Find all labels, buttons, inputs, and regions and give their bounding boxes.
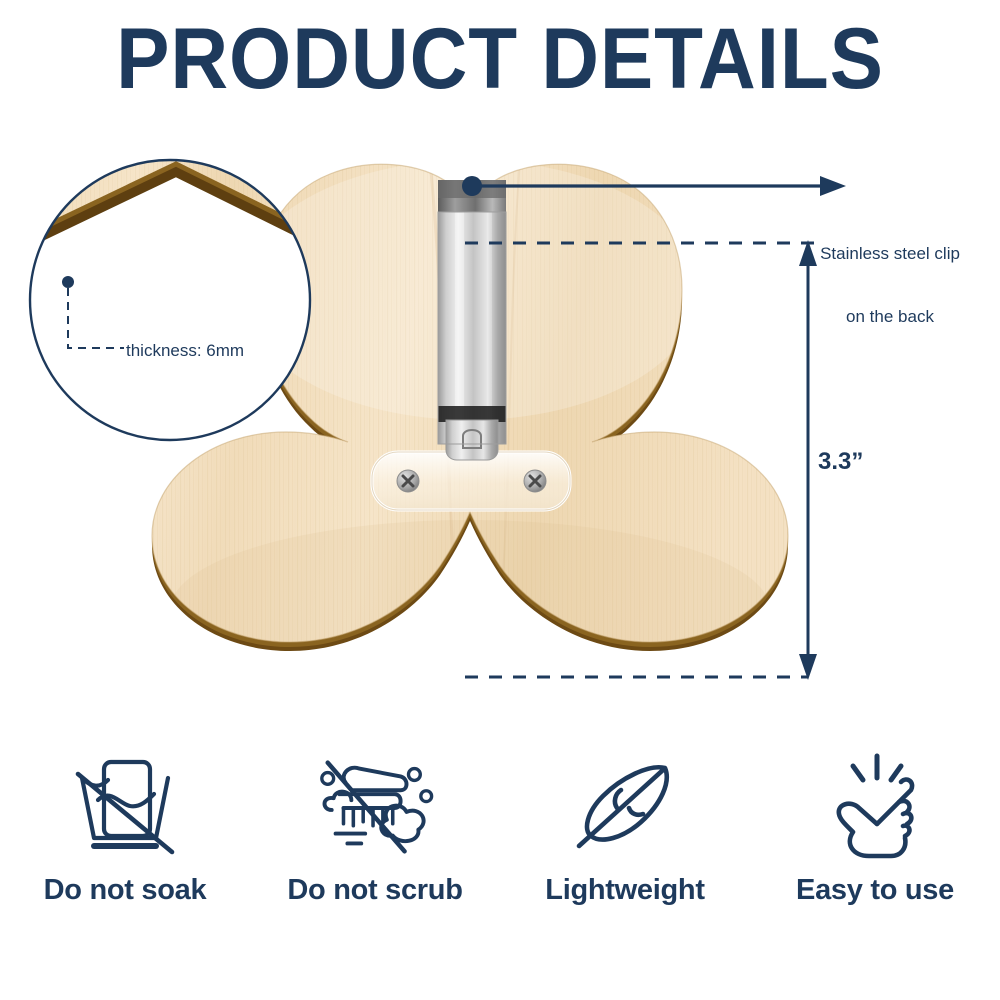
feather-icon <box>560 752 690 862</box>
feature-easy-to-use: Easy to use <box>750 752 1000 952</box>
feature-label: Easy to use <box>796 874 954 907</box>
stainless-steel-clip <box>438 180 506 460</box>
product-details-infographic: PRODUCT DETAILS <box>0 0 1000 1000</box>
tap-hand-icon <box>810 752 940 862</box>
feature-lightweight: Lightweight <box>500 752 750 952</box>
feature-do-not-scrub: Do not scrub <box>250 752 500 952</box>
no-scrub-icon <box>310 752 440 862</box>
page-title: PRODUCT DETAILS <box>35 16 965 102</box>
feature-label: Lightweight <box>545 874 704 907</box>
feature-label: Do not soak <box>44 874 207 907</box>
feature-label: Do not scrub <box>287 874 462 907</box>
screw-left <box>397 470 419 492</box>
leader-dot-icon <box>62 276 74 288</box>
clip-callout-line2: on the back <box>800 306 980 327</box>
height-label: 3.3” <box>818 448 863 476</box>
feature-row: Do not soak <box>0 752 1000 952</box>
thickness-label: thickness: 6mm <box>126 340 244 361</box>
arrow-right-icon <box>820 176 846 196</box>
clip-callout-text: Stainless steel clip on the back <box>800 200 980 370</box>
no-soak-icon <box>60 752 190 862</box>
feature-do-not-soak: Do not soak <box>0 752 250 952</box>
screw-right <box>524 470 546 492</box>
clip-callout-line1: Stainless steel clip <box>800 243 980 264</box>
